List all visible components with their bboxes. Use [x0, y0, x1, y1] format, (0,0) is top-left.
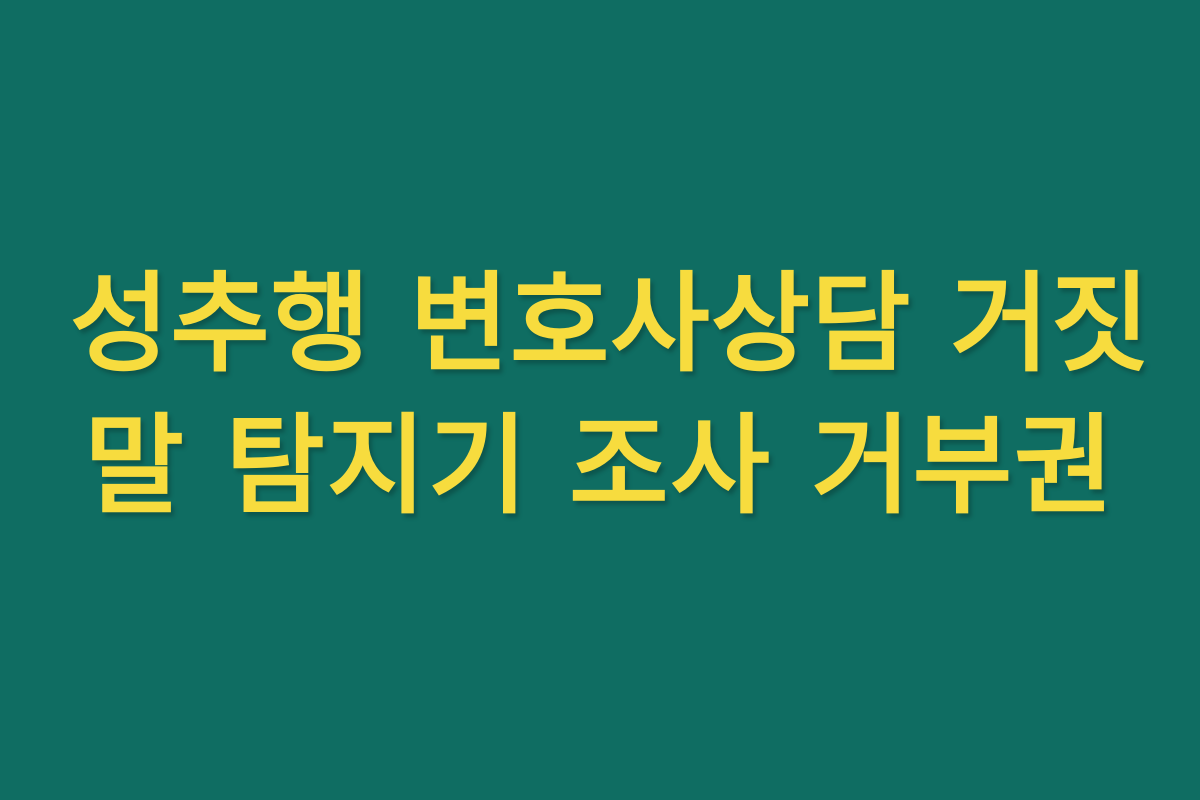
text-banner: 성추행 변호사상담 거짓 말 탐지기 조사 거부권	[0, 0, 1200, 800]
headline-line-2: 말 탐지기 조사 거부권	[70, 399, 1130, 535]
headline-block: 성추행 변호사상담 거짓 말 탐지기 조사 거부권	[70, 257, 1130, 535]
headline-line-1: 성추행 변호사상담 거짓	[70, 257, 1130, 393]
